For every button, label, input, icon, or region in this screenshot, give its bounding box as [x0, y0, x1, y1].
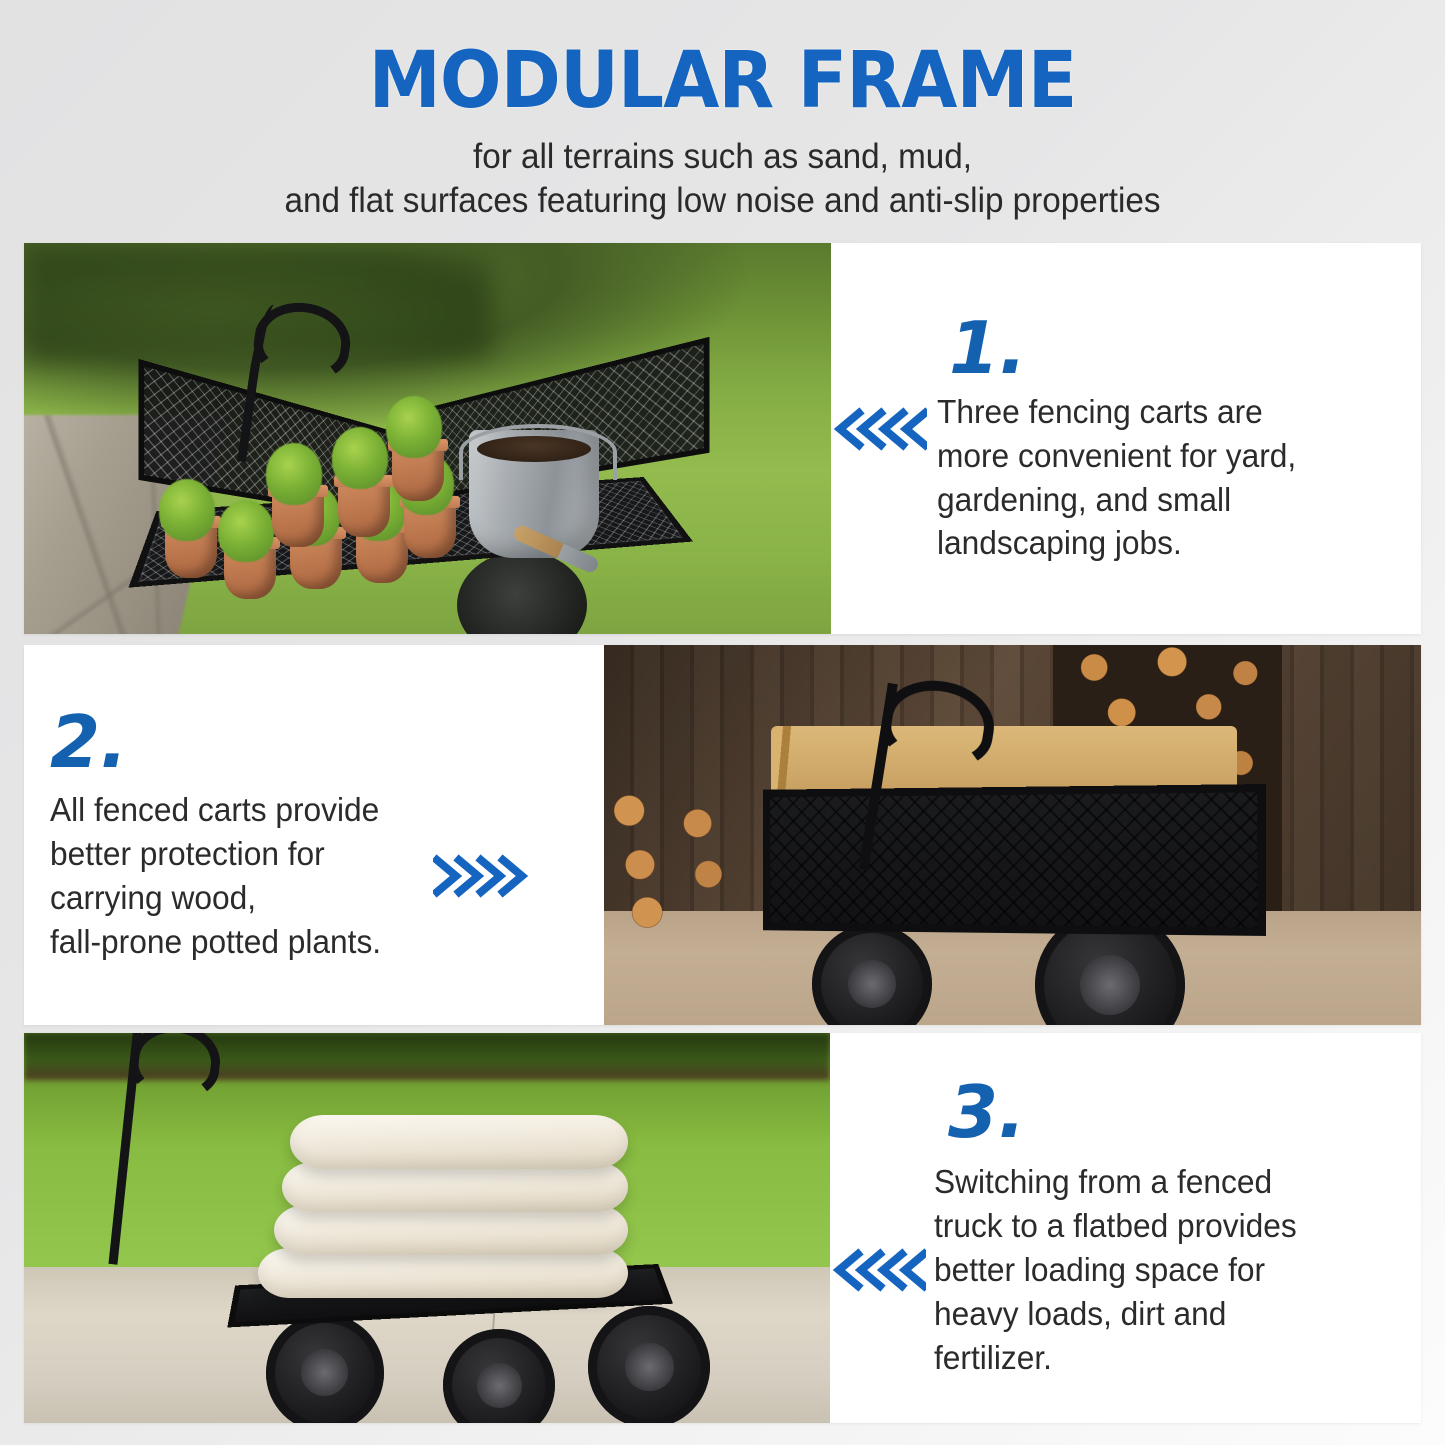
panel-1-text-column: 1. Three fencing carts are more convenie… [831, 243, 1421, 634]
chevron-left-icon [831, 406, 927, 452]
page-subtitle: for all terrains such as sand, mud, and … [36, 135, 1409, 223]
image-garden-cart-loaded-with-firewood [604, 645, 1421, 1025]
feature-panel-3: 3. Switching from a fenced truck to a fl… [24, 1033, 1421, 1423]
chevron-right-icon [433, 853, 529, 899]
feature-panel-1: 1. Three fencing carts are more convenie… [24, 243, 1421, 634]
panel-1-description: Three fencing carts are more convenient … [937, 390, 1296, 566]
panel-1-number: 1. [949, 312, 1391, 384]
panel-2-number: 2. [50, 706, 604, 778]
subtitle-line-2: and flat surfaces featuring low noise an… [36, 179, 1409, 223]
subtitle-line-1: for all terrains such as sand, mud, [36, 135, 1409, 179]
panel-3-description: Switching from a fenced truck to a flatb… [934, 1160, 1297, 1379]
chevron-left-icon [830, 1247, 926, 1293]
image-flatbed-cart-with-stacked-pillows [24, 1033, 830, 1423]
page-title: MODULAR FRAME [51, 44, 1395, 119]
panel-3-number: 3. [948, 1076, 1401, 1148]
panel-3-text-column: 3. Switching from a fenced truck to a fl… [830, 1033, 1421, 1423]
image-garden-cart-with-potted-plants [24, 243, 831, 634]
feature-panel-2: 2. All fenced carts provide better prote… [24, 645, 1421, 1025]
panel-2-text-column: 2. All fenced carts provide better prote… [24, 645, 604, 1025]
panel-2-description: All fenced carts provide better protecti… [50, 788, 381, 964]
header-block: MODULAR FRAME for all terrains such as s… [0, 0, 1445, 223]
